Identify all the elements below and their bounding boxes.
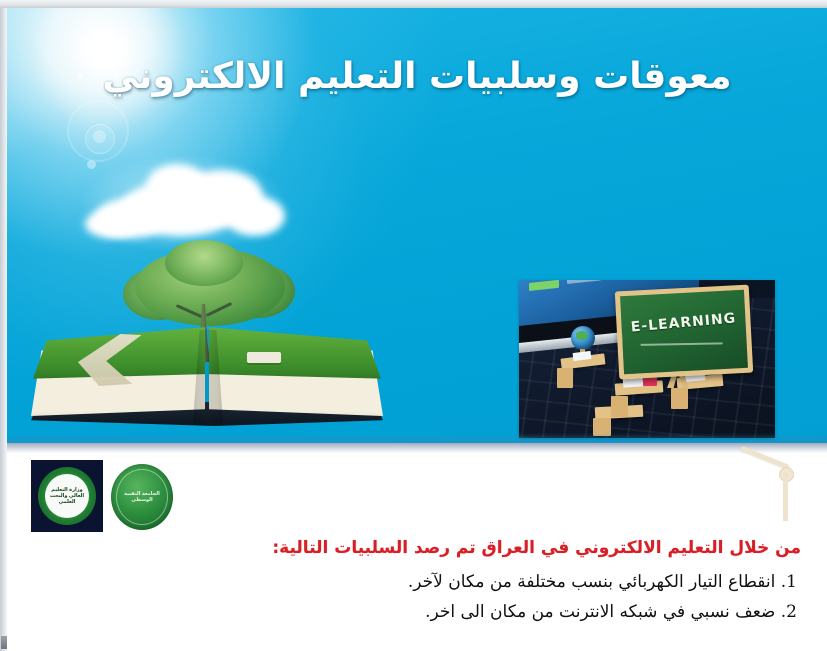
chair-icon: [557, 368, 573, 388]
institution-logos: وزارة التعليم العالي والبحث العلمي الجام…: [31, 460, 181, 538]
window-top-chrome-strip: [0, 0, 827, 8]
chalk-underline: [641, 342, 723, 345]
list-item: 2. ضعف نسبي في شبكه الانترنت من مكان الى…: [7, 597, 797, 627]
slide-content-area: وزارة التعليم العالي والبحث العلمي الجام…: [7, 453, 827, 651]
elearning-photo: E-LEARNING: [519, 280, 775, 438]
cloud-icon: [85, 158, 275, 244]
ministry-emblem-icon: وزارة التعليم العالي والبحث العلمي: [31, 460, 103, 532]
left-scrollbar-rail[interactable]: [0, 8, 7, 651]
hero-blue-panel: معوقات وسلبيات التعليم الالكتروني: [7, 8, 827, 443]
slide-title: معوقات وسلبيات التعليم الالكتروني: [7, 56, 827, 97]
open-book-tree-artwork: [25, 148, 395, 438]
chalkboard-icon: E-LEARNING: [615, 285, 753, 380]
ministry-emblem-label: وزارة التعليم العالي والبحث العلمي: [45, 474, 89, 518]
chair-icon: [611, 396, 628, 417]
screen-tab-gray: [567, 280, 601, 284]
bench-icon: [247, 352, 281, 363]
content-heading: من خلال التعليم الالكتروني في العراق تم …: [7, 538, 801, 558]
globe-landmass: [576, 331, 588, 340]
university-emblem-icon: الجامعة التقنية الوسطى: [111, 464, 173, 530]
negatives-list: 1. انقطاع التيار الكهربائي بنسب مختلفة م…: [7, 567, 797, 627]
hero-bottom-shade: [7, 433, 827, 443]
chalkboard-caption: E-LEARNING: [621, 310, 746, 337]
university-emblem-label: الجامعة التقنية الوسطى: [116, 469, 168, 525]
chair-icon: [671, 388, 688, 409]
grass-right: [209, 326, 381, 382]
list-item: 1. انقطاع التيار الكهربائي بنسب مختلفة م…: [7, 567, 797, 597]
open-book-icon: [31, 316, 383, 428]
hero-content-separator: [7, 443, 827, 453]
presentation-slide: معوقات وسلبيات التعليم الالكتروني: [0, 0, 827, 651]
pointer-stem: [783, 473, 788, 521]
screen-tab-green: [529, 280, 559, 291]
pointer-arm-graphic: [737, 455, 807, 521]
